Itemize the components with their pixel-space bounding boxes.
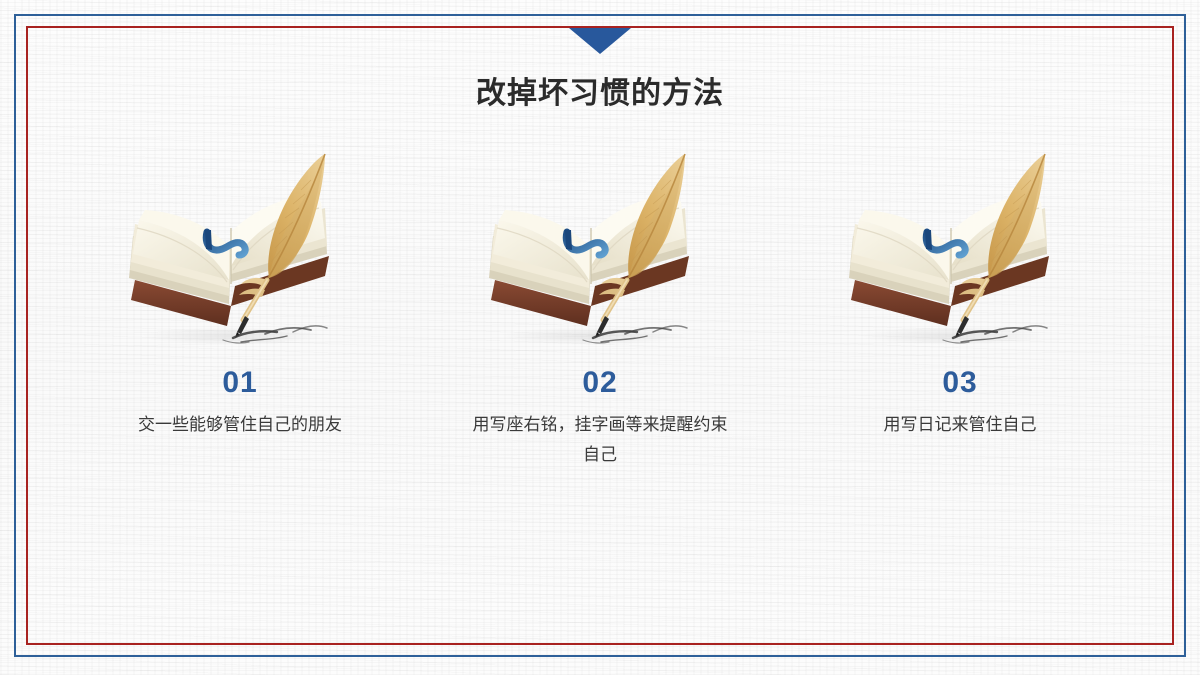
item-column-2: 02 用写座右铭，挂字画等来提醒约束自己: [420, 150, 780, 470]
item-column-1: 01 交一些能够管住自己的朋友: [60, 150, 420, 470]
item-description: 用写座右铭，挂字画等来提醒约束自己: [470, 410, 730, 470]
open-book-with-quill-illustration: [115, 150, 365, 350]
item-column-3: 03 用写日记来管住自己: [780, 150, 1140, 470]
item-number: 03: [942, 368, 977, 398]
items-row: 01 交一些能够管住自己的朋友: [60, 150, 1140, 470]
book-quill-icon-1: [115, 150, 365, 350]
open-book-with-quill-illustration: [835, 150, 1085, 350]
page-title: 改掉坏习惯的方法: [0, 68, 1200, 112]
open-book-with-quill-illustration: [475, 150, 725, 350]
item-description: 用写日记来管住自己: [830, 410, 1090, 440]
slide-canvas: 改掉坏习惯的方法: [0, 0, 1200, 675]
book-quill-icon-2: [475, 150, 725, 350]
item-number: 02: [582, 368, 617, 398]
book-quill-icon-3: [835, 150, 1085, 350]
item-number: 01: [222, 368, 257, 398]
triangle-marker-icon: [569, 28, 631, 54]
item-description: 交一些能够管住自己的朋友: [110, 410, 370, 440]
